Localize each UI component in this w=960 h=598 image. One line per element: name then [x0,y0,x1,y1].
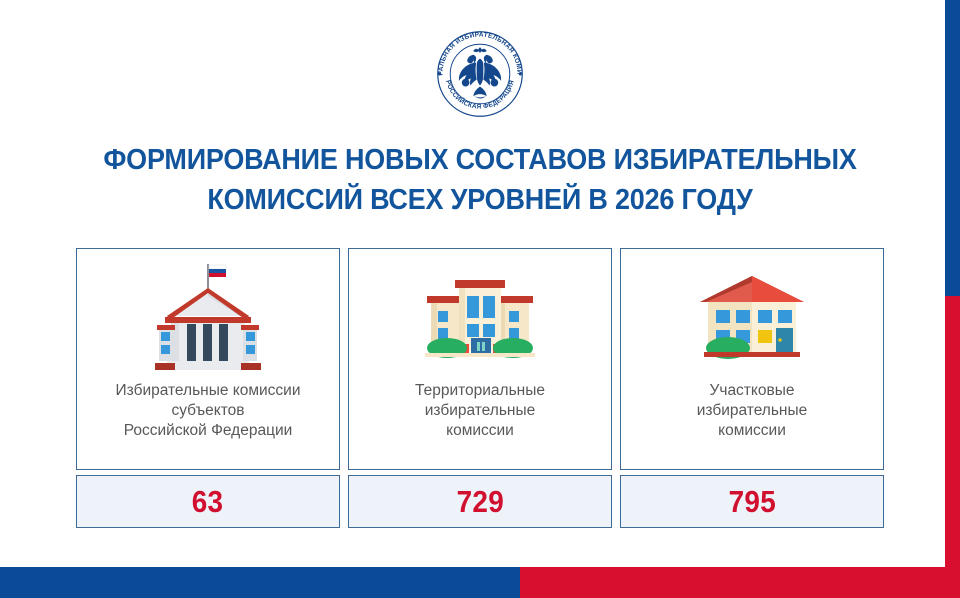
commission-count-box-subjects: 63 [76,475,340,528]
commission-count-box-precinct: 795 [620,475,884,528]
right-stripe-red-segment [945,296,960,598]
commission-card-label: Территориальные избирательные комиссии [405,375,555,441]
bottom-band-blue-segment [0,567,520,598]
commission-column-precinct: Участковые избирательные комиссии 795 [620,248,884,528]
municipal-building-icon [421,257,539,375]
commission-count-box-territorial: 729 [348,475,612,528]
bottom-band-red-segment [520,567,960,598]
commission-count-value: 795 [728,484,775,520]
bottom-flag-band [0,567,960,598]
commission-card-precinct: Участковые избирательные комиссии [620,248,884,470]
commission-card-subjects: Избирательные комиссии субъектов Российс… [76,248,340,470]
page-title-line-2: КОМИССИЙ ВСЕХ УРОВНЕЙ В 2026 ГОДУ [89,180,870,220]
emblem-container: ЦЕНТРАЛЬНАЯ ИЗБИРАТЕЛЬНАЯ КОМИССИЯ РОССИ… [0,26,960,122]
commission-card-label: Участковые избирательные комиссии [687,375,818,441]
commission-column-subjects: Избирательные комиссии субъектов Российс… [76,248,340,528]
commission-card-label: Избирательные комиссии субъектов Российс… [106,375,311,441]
house-building-icon [696,257,808,375]
commission-cards: Избирательные комиссии субъектов Российс… [76,248,884,528]
commission-count-value: 63 [192,484,224,520]
page-title: ФОРМИРОВАНИЕ НОВЫХ СОСТАВОВ ИЗБИРАТЕЛЬНЫ… [89,140,870,220]
commission-card-territorial: Территориальные избирательные комиссии [348,248,612,470]
government-building-icon [149,257,267,375]
commission-column-territorial: Территориальные избирательные комиссии 7… [348,248,612,528]
cec-russia-emblem-icon: ЦЕНТРАЛЬНАЯ ИЗБИРАТЕЛЬНАЯ КОМИССИЯ РОССИ… [432,26,528,122]
page-title-line-1: ФОРМИРОВАНИЕ НОВЫХ СОСТАВОВ ИЗБИРАТЕЛЬНЫ… [89,140,870,180]
commission-count-value: 729 [456,484,503,520]
